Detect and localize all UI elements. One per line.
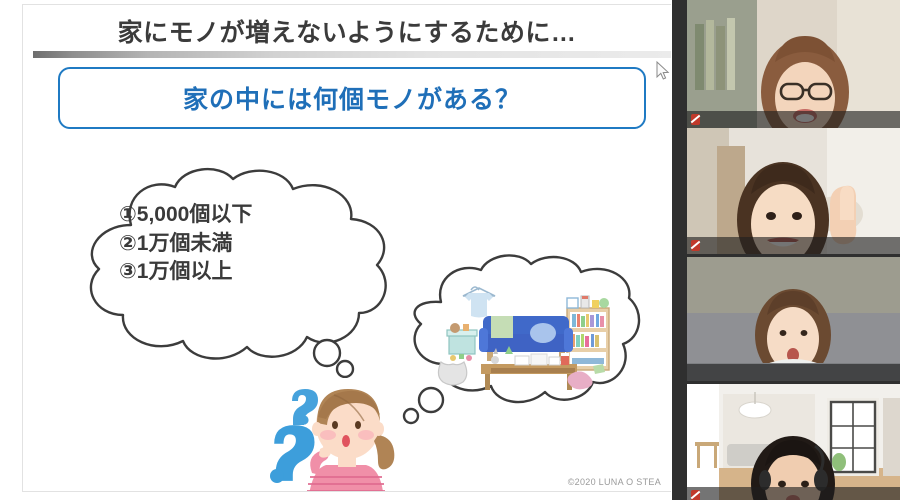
participant-video-feed [687,128,900,254]
muted-mic-icon [691,114,700,125]
arrow-pointer-icon [656,61,670,81]
participant-name-bar [687,237,900,254]
question-text: 家の中には何個モノがある？ [183,80,521,116]
cluttered-room-thought-bubble [395,250,645,425]
muted-mic-icon [691,240,700,251]
participant-video-feed [687,0,900,128]
question-mark-icon [270,425,315,483]
screen-share-meeting: 家にモノが増えないようにするために… 家の中には何個モノがある？ ①5,000個… [0,0,900,500]
question-mark-icon [292,389,318,425]
participant-video-feed [687,384,900,500]
copyright-notice: ©2020 LUNA O STEA [568,477,661,487]
room-illustration-icon [395,250,645,425]
muted-mic-icon [691,490,700,500]
trash-bag-icon [438,362,466,385]
participant-name-bar [687,487,900,500]
answer-option: ②1万個未満 [119,230,359,258]
girl-character-icon [238,373,413,492]
participant-name-bar [687,364,900,381]
thinking-girl-illustration [238,373,413,492]
participant-tile-active-speaker[interactable] [687,257,900,381]
answer-option: ①5,000個以下 [119,201,359,229]
participant-tile[interactable] [687,384,900,500]
mouse-cursor [656,61,670,81]
answers-thought-bubble: ①5,000個以下 ②1万個未満 ③1万個以上 [71,163,401,378]
answer-option: ③1万個以上 [119,258,359,286]
title-divider [33,51,671,58]
participant-name-bar [687,111,900,128]
participant-tile[interactable] [687,128,900,254]
participant-video-feed [687,257,900,381]
participant-tile[interactable] [687,0,900,128]
question-callout-box: 家の中には何個モノがある？ [58,67,646,129]
bookshelf-icon [567,296,609,370]
participant-video-strip [672,0,900,500]
shared-screen-region[interactable]: 家にモノが増えないようにするために… 家の中には何個モノがある？ ①5,000個… [0,0,672,500]
page-title: 家にモノが増えないようにするために… [23,13,671,49]
presentation-slide[interactable]: 家にモノが増えないようにするために… 家の中には何個モノがある？ ①5,000個… [22,4,671,492]
answer-options-list: ①5,000個以下 ②1万個未満 ③1万個以上 [119,201,359,286]
